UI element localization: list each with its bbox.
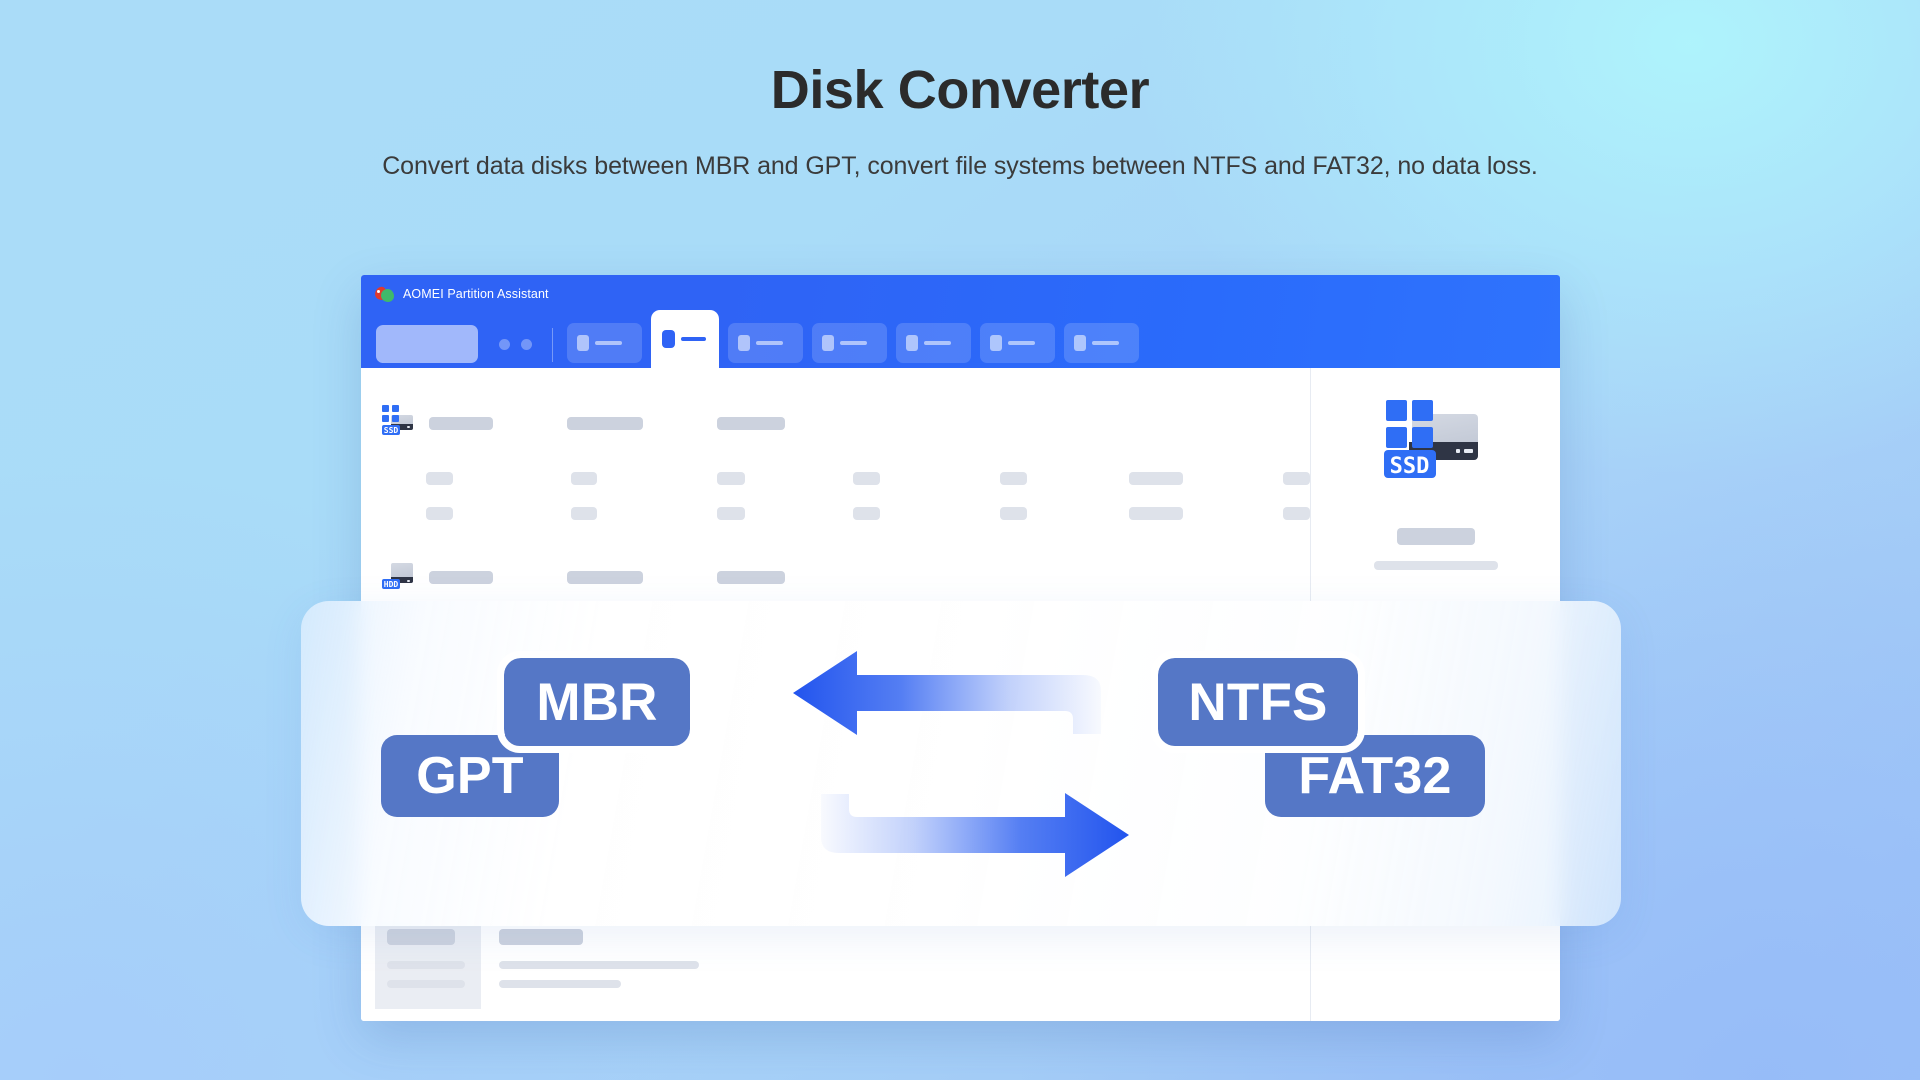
windows-logo-icon — [1386, 400, 1434, 448]
window-titlebar: AOMEI Partition Assistant — [361, 275, 1560, 368]
ntfs-badge: NTFS — [1158, 658, 1358, 746]
disk-detail-panel — [375, 913, 1310, 1009]
disk-type-badge: HDD — [382, 579, 400, 589]
summary-line-placeholder — [387, 980, 465, 988]
tab-3[interactable] — [728, 323, 803, 363]
tab-2-active[interactable] — [651, 310, 719, 368]
toolbar-tabs — [567, 310, 1139, 368]
conversion-arrows — [761, 619, 1161, 909]
fat32-badge: FAT32 — [1265, 735, 1485, 817]
tab-icon — [738, 335, 750, 351]
field-placeholder — [717, 571, 785, 584]
partition-row[interactable] — [361, 507, 1310, 520]
field-placeholder — [717, 417, 785, 430]
tab-icon — [1074, 335, 1086, 351]
app-toolbar — [361, 313, 1560, 368]
windows-logo-icon — [382, 405, 399, 422]
hero-section: Disk Converter Convert data disks betwee… — [0, 0, 1920, 181]
hdd-disk-icon: HDD — [381, 559, 415, 593]
disk-row[interactable]: SSD — [361, 368, 1310, 520]
sidebar-title-placeholder — [1397, 528, 1475, 545]
disk-header-fields — [429, 569, 785, 584]
tab-icon — [662, 330, 675, 348]
disk-type-badge: SSD — [1384, 450, 1436, 478]
field-placeholder — [429, 417, 493, 430]
disk-header: SSD — [361, 394, 1310, 450]
gpt-badge: GPT — [381, 735, 559, 817]
cell-placeholder — [1000, 472, 1027, 485]
cell-placeholder — [426, 507, 453, 520]
tab-label-placeholder — [840, 341, 867, 345]
toolbar-dot-buttons[interactable] — [499, 339, 532, 350]
summary-line-placeholder — [387, 961, 465, 969]
disk-header: HDD — [361, 548, 1310, 604]
tab-4[interactable] — [812, 323, 887, 363]
tab-icon — [990, 335, 1002, 351]
cell-placeholder — [717, 472, 745, 485]
cell-placeholder — [1000, 507, 1027, 520]
toolbar-divider — [552, 328, 553, 362]
tab-label-placeholder — [924, 341, 951, 345]
tab-label-placeholder — [756, 341, 783, 345]
app-title: AOMEI Partition Assistant — [403, 287, 549, 301]
tab-1[interactable] — [567, 323, 642, 363]
tab-6[interactable] — [980, 323, 1055, 363]
tab-icon — [906, 335, 918, 351]
field-placeholder — [567, 417, 643, 430]
convert-right-arrow — [821, 793, 1129, 877]
tab-icon — [577, 335, 589, 351]
field-placeholder — [429, 571, 493, 584]
cell-placeholder — [1129, 507, 1184, 520]
convert-left-arrow — [793, 651, 1101, 735]
cell-placeholder — [571, 507, 598, 520]
tab-label-placeholder — [595, 341, 622, 345]
disk-type-badge: SSD — [382, 425, 400, 435]
disk-detail-summary — [375, 913, 481, 1009]
detail-line-placeholder — [499, 980, 621, 988]
tab-label-placeholder — [1008, 341, 1035, 345]
cell-placeholder — [571, 472, 598, 485]
cell-placeholder — [426, 472, 453, 485]
cell-placeholder — [717, 507, 745, 520]
cell-placeholder — [1129, 472, 1184, 485]
windows-ssd-disk-icon: SSD — [1376, 398, 1496, 498]
disk-detail-body — [481, 913, 1310, 1009]
conversion-overlay-card: GPT MBR FAT32 NTFS — [301, 601, 1621, 926]
windows-ssd-disk-icon: SSD — [381, 405, 415, 439]
sidebar-line-placeholder — [1374, 561, 1498, 570]
page-title: Disk Converter — [0, 62, 1920, 119]
mbr-badge: MBR — [504, 658, 690, 746]
sidebar-placeholders — [1311, 528, 1560, 570]
toolbar-dot-1[interactable] — [499, 339, 510, 350]
cell-placeholder — [1283, 472, 1310, 485]
aomei-logo-icon — [375, 286, 394, 303]
detail-line-placeholder — [499, 961, 699, 969]
detail-title-placeholder — [499, 929, 583, 945]
tab-icon — [822, 335, 834, 351]
summary-title-placeholder — [387, 929, 455, 945]
cell-placeholder — [853, 507, 880, 520]
tab-label-placeholder — [681, 337, 706, 341]
search-input[interactable] — [376, 325, 478, 363]
tab-5[interactable] — [896, 323, 971, 363]
tab-label-placeholder — [1092, 341, 1119, 345]
cell-placeholder — [1283, 507, 1310, 520]
field-placeholder — [567, 571, 643, 584]
cell-placeholder — [853, 472, 880, 485]
sidebar-icon-wrap: SSD — [1311, 368, 1560, 498]
titlebar-top-row: AOMEI Partition Assistant — [361, 275, 1560, 313]
tab-7[interactable] — [1064, 323, 1139, 363]
page-subtitle: Convert data disks between MBR and GPT, … — [0, 152, 1920, 181]
partition-row[interactable] — [361, 472, 1310, 485]
toolbar-dot-2[interactable] — [521, 339, 532, 350]
disk-header-fields — [429, 415, 785, 430]
